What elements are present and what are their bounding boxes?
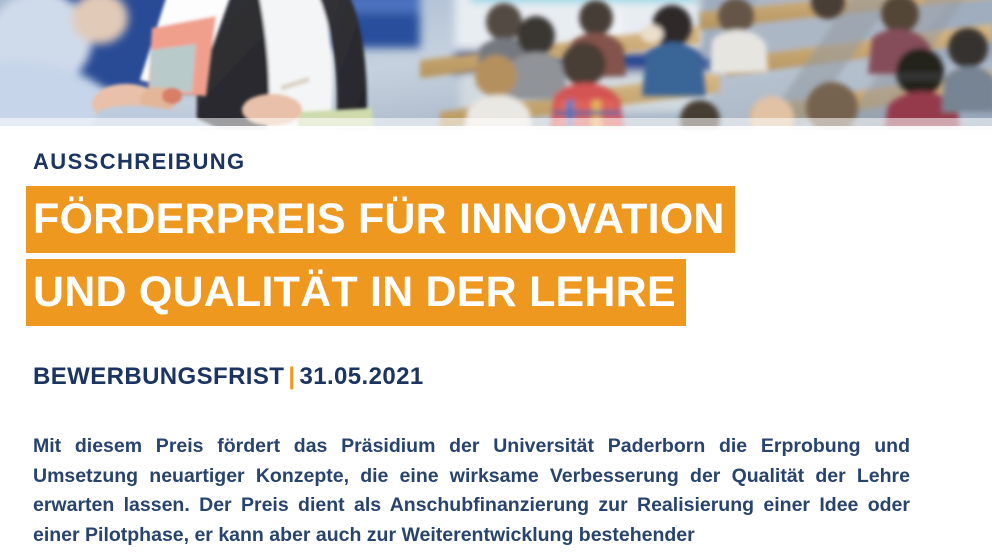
deadline-separator: | [284, 363, 299, 390]
lecture-hall-photo [0, 0, 992, 130]
body-paragraph: Mit diesem Preis fördert das Präsidium d… [33, 432, 910, 550]
hero-image [0, 0, 992, 130]
poster-title: FÖRDERPREIS FÜR INNOVATION UND QUALITÄT … [26, 186, 735, 326]
deadline-label: BEWERBUNGSFRIST [33, 363, 284, 390]
deadline-line: BEWERBUNGSFRIST|31.05.2021 [33, 365, 424, 389]
title-line-1: FÖRDERPREIS FÜR INNOVATION [26, 186, 735, 253]
deadline-date: 31.05.2021 [299, 363, 423, 390]
poster: AUSSCHREIBUNG FÖRDERPREIS FÜR INNOVATION… [0, 0, 992, 558]
title-line-2: UND QUALITÄT IN DER LEHRE [26, 259, 686, 326]
kicker-label: AUSSCHREIBUNG [33, 151, 246, 173]
